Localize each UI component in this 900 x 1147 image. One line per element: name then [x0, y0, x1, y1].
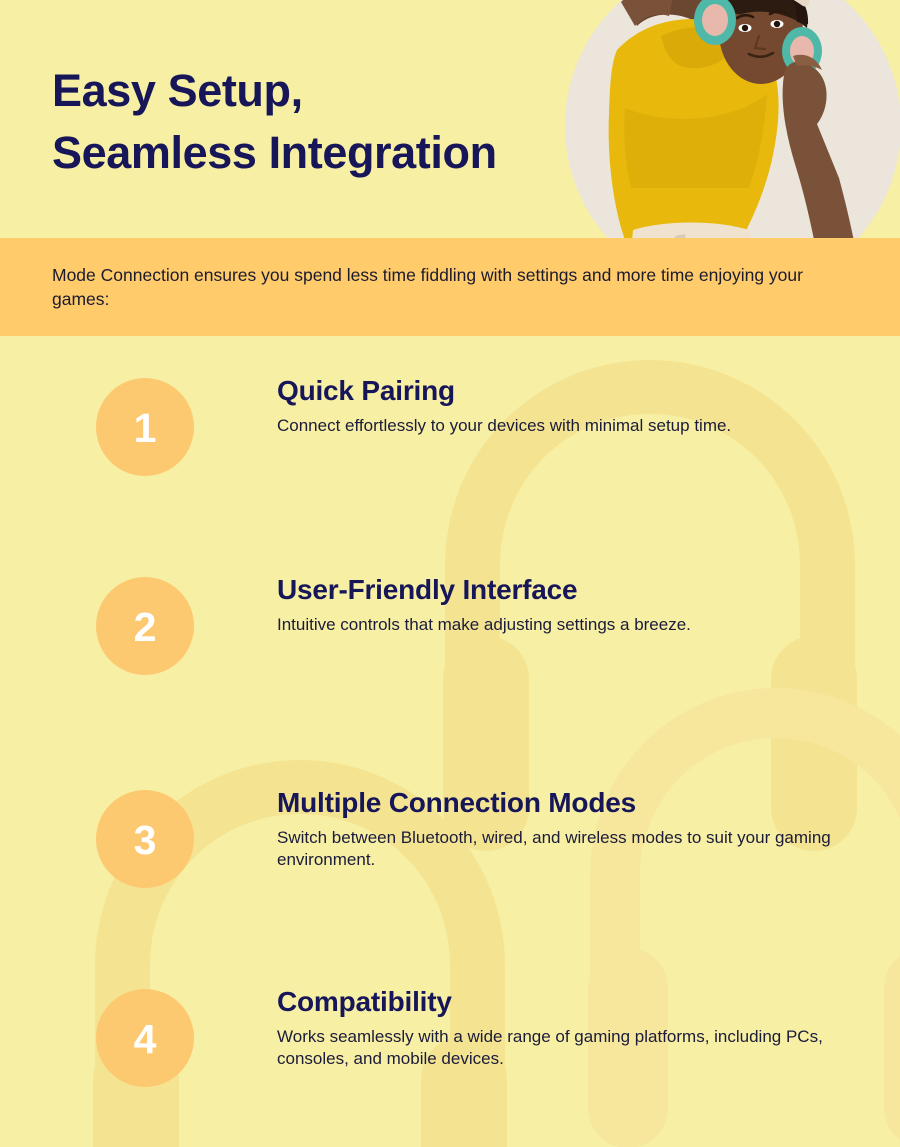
feature-body-3: Multiple Connection Modes Switch between…: [277, 786, 867, 872]
feature-number-2: 2: [134, 607, 157, 648]
feature-item-4: 4 Compatibility Works seamlessly with a …: [0, 947, 900, 1127]
feature-item-2: 2 User-Friendly Interface Intuitive cont…: [0, 535, 900, 715]
hero-photo: [565, 0, 900, 238]
hero-section: Easy Setup, Seamless Integration: [0, 0, 900, 238]
intro-banner: Mode Connection ensures you spend less t…: [0, 238, 900, 336]
feature-title-2: User-Friendly Interface: [277, 573, 867, 606]
feature-body-1: Quick Pairing Connect effortlessly to yo…: [277, 374, 867, 437]
feature-body-4: Compatibility Works seamlessly with a wi…: [277, 985, 867, 1071]
feature-title-4: Compatibility: [277, 985, 867, 1018]
feature-number-4: 4: [134, 1019, 157, 1060]
feature-item-3: 3 Multiple Connection Modes Switch betwe…: [0, 748, 900, 928]
feature-item-1: 1 Quick Pairing Connect effortlessly to …: [0, 336, 900, 516]
feature-title-3: Multiple Connection Modes: [277, 786, 867, 819]
feature-title-1: Quick Pairing: [277, 374, 867, 407]
page-title: Easy Setup, Seamless Integration: [52, 60, 612, 184]
feature-number-1: 1: [134, 408, 157, 449]
page-title-line-2: Seamless Integration: [52, 122, 612, 184]
feature-badge-4: 4: [96, 989, 194, 1087]
intro-text: Mode Connection ensures you spend less t…: [52, 263, 852, 311]
feature-description-3: Switch between Bluetooth, wired, and wir…: [277, 827, 867, 872]
feature-badge-2: 2: [96, 577, 194, 675]
feature-description-2: Intuitive controls that make adjusting s…: [277, 614, 867, 636]
feature-body-2: User-Friendly Interface Intuitive contro…: [277, 573, 867, 636]
feature-number-3: 3: [134, 820, 157, 861]
feature-description-1: Connect effortlessly to your devices wit…: [277, 415, 867, 437]
feature-badge-3: 3: [96, 790, 194, 888]
feature-description-4: Works seamlessly with a wide range of ga…: [277, 1026, 867, 1071]
feature-badge-1: 1: [96, 378, 194, 476]
page-title-line-1: Easy Setup,: [52, 60, 612, 122]
